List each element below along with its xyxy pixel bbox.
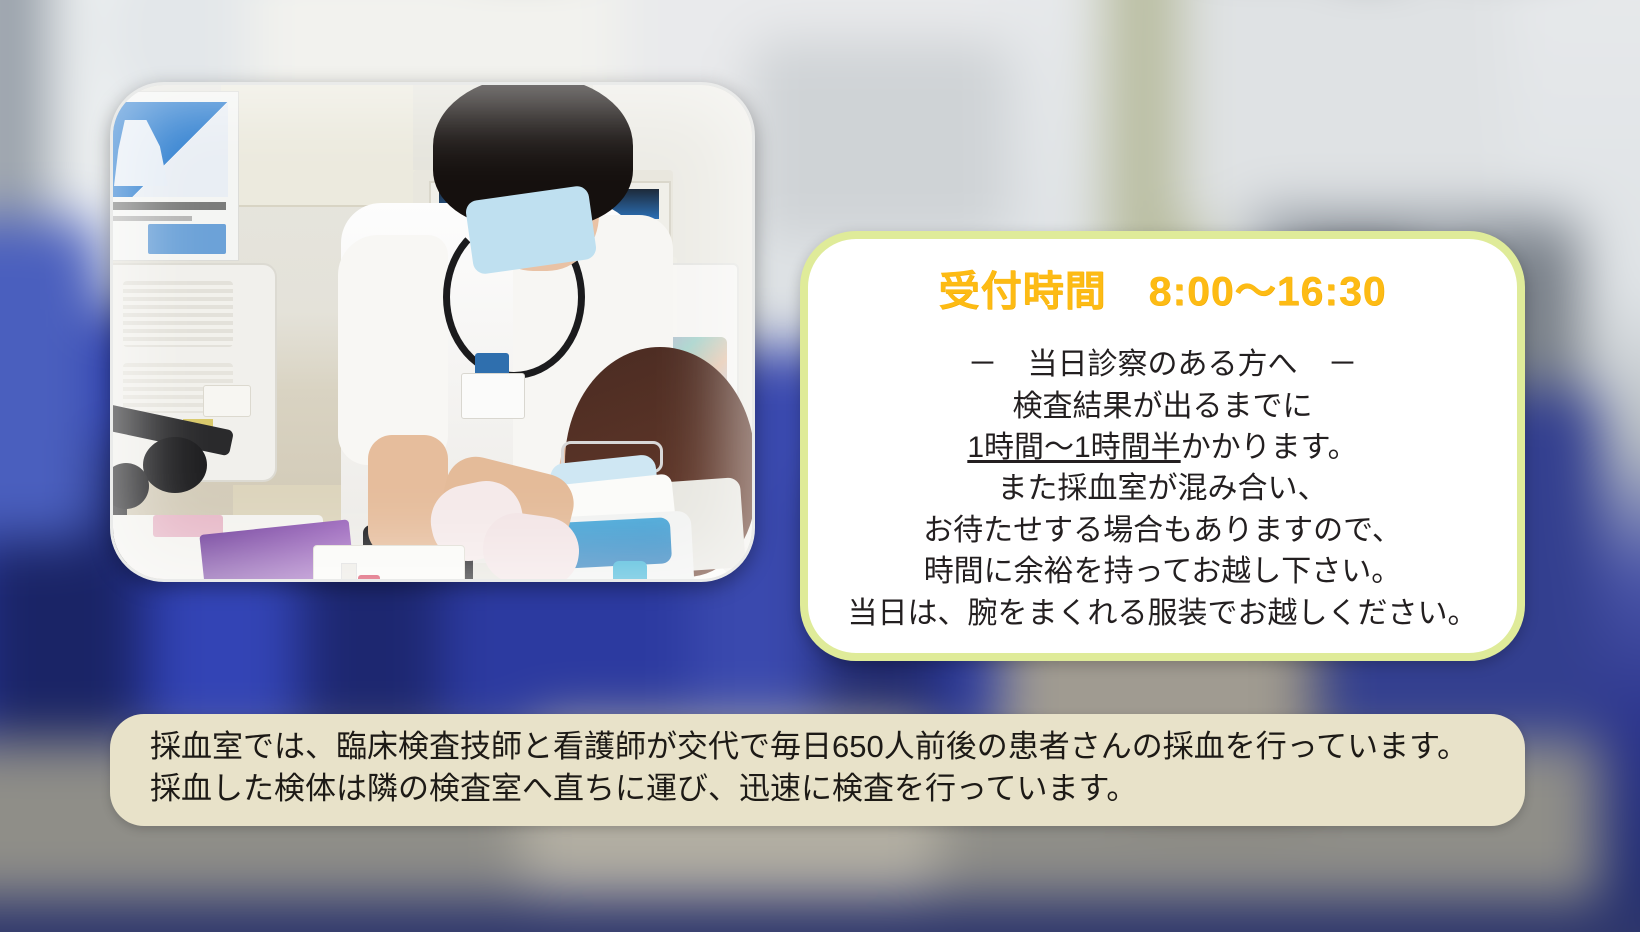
caption-bar: 採血室では、臨床検査技師と看護師が交代で毎日650人前後の患者さんの採血を行って… xyxy=(110,714,1525,826)
info-line-1: － 当日診察のある方へ － xyxy=(808,344,1517,385)
info-line-2: 検査結果が出るまでに xyxy=(808,386,1517,427)
reception-hours-heading: 受付時間 8:00〜16:30 xyxy=(808,265,1517,318)
reception-info-card: 受付時間 8:00〜16:30 － 当日診察のある方へ － 検査結果が出るまでに… xyxy=(800,231,1525,661)
info-line-3-suffix: かかります。 xyxy=(1181,431,1358,464)
blood-draw-photo xyxy=(110,82,755,582)
slide-canvas: 受付時間 8:00〜16:30 － 当日診察のある方へ － 検査結果が出るまでに… xyxy=(0,0,1640,932)
photo-content xyxy=(113,85,752,579)
info-line-3: 1時間〜1時間半かかります。 xyxy=(808,427,1517,468)
reception-info-body: － 当日診察のある方へ － 検査結果が出るまでに 1時間〜1時間半かかります。 … xyxy=(808,344,1517,634)
caption-line-1: 採血室では、臨床検査技師と看護師が交代で毎日650人前後の患者さんの採血を行って… xyxy=(150,726,1525,768)
info-line-7: 当日は、腕をまくれる服装でお越しください。 xyxy=(808,593,1517,634)
info-line-6: 時間に余裕を持ってお越し下さい。 xyxy=(808,551,1517,592)
info-line-4: また採血室が混み合い、 xyxy=(808,468,1517,509)
info-line-3-underlined: 1時間〜1時間半 xyxy=(967,431,1180,464)
info-line-5: お待たせする場合もありますので、 xyxy=(808,510,1517,551)
caption-line-2: 採血した検体は隣の検査室へ直ちに運び、迅速に検査を行っています。 xyxy=(150,768,1525,810)
